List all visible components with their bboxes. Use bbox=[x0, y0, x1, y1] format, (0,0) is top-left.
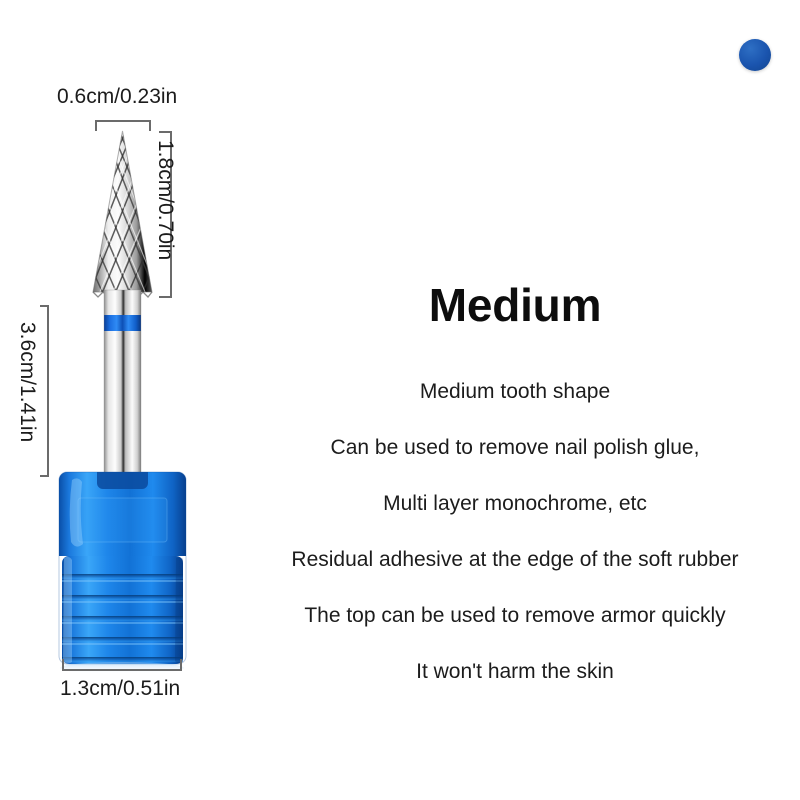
head-width-dimension-line bbox=[95, 120, 151, 122]
base-width-dimension-line bbox=[62, 669, 182, 671]
rubber-base-grip bbox=[59, 472, 186, 674]
product-copy-block: Medium Medium tooth shape Can be used to… bbox=[262, 282, 768, 684]
head-height-label: 1.8cm/0.70in bbox=[155, 140, 176, 260]
head-height-tick-top bbox=[159, 131, 172, 133]
head-height-tick-bottom bbox=[159, 296, 172, 298]
metal-shank bbox=[104, 290, 141, 480]
shank-length-tick-top bbox=[40, 305, 49, 307]
base-width-label: 1.3cm/0.51in bbox=[60, 678, 180, 699]
head-width-tick-right bbox=[149, 120, 151, 131]
feature-line: Residual adhesive at the edge of the sof… bbox=[262, 548, 768, 571]
shank-length-label: 3.6cm/1.41in bbox=[17, 322, 38, 442]
feature-line: Can be used to remove nail polish glue, bbox=[262, 436, 768, 459]
shank-length-tick-bottom bbox=[40, 475, 49, 477]
product-infographic: 0.6cm/0.23in 1.8cm/0.70in 3.6cm/1.41in 1… bbox=[0, 0, 800, 800]
base-width-tick-right bbox=[180, 659, 182, 671]
product-headline: Medium bbox=[262, 282, 768, 328]
feature-line: The top can be used to remove armor quic… bbox=[262, 604, 768, 627]
base-ribs bbox=[62, 556, 184, 664]
feature-line: Multi layer monochrome, etc bbox=[262, 492, 768, 515]
head-width-label: 0.6cm/0.23in bbox=[57, 86, 177, 107]
feature-line: Medium tooth shape bbox=[262, 380, 768, 403]
grit-identification-band bbox=[104, 315, 141, 331]
feature-line: It won't harm the skin bbox=[262, 660, 768, 683]
base-width-tick-left bbox=[62, 659, 64, 671]
shank-length-dimension-line bbox=[47, 305, 49, 477]
head-width-tick-left bbox=[95, 120, 97, 131]
